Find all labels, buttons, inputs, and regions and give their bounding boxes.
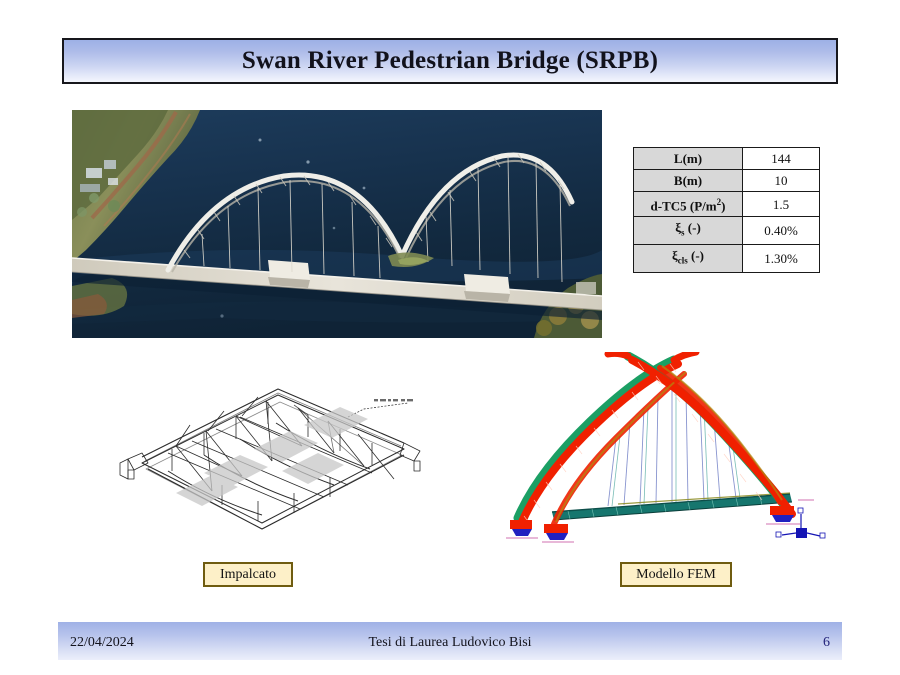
param-label: d-TC5 (P/m2) <box>634 192 743 217</box>
param-label-suffix: (-) <box>685 220 701 235</box>
caption-impalcato: Impalcato <box>203 562 293 587</box>
param-value: 0.40% <box>743 217 820 245</box>
param-label: L(m) <box>634 148 743 170</box>
caption-modello-fem: Modello FEM <box>620 562 732 587</box>
param-unit-suffix: ) <box>721 198 725 213</box>
caption-impalcato-label: Impalcato <box>220 567 276 583</box>
page-title: Swan River Pedestrian Bridge (SRPB) <box>242 47 658 75</box>
deck-cad-drawing <box>112 375 432 545</box>
parameter-table: L(m) 144 B(m) 10 d-TC5 (P/m2) 1.5 ξs (-)… <box>633 147 820 273</box>
table-row: d-TC5 (P/m2) 1.5 <box>634 192 820 217</box>
param-value: 1.30% <box>743 244 820 272</box>
param-label-subscript: cls <box>678 256 688 266</box>
param-label-base: d-TC5 <box>651 198 687 213</box>
table-row: L(m) 144 <box>634 148 820 170</box>
param-label: B(m) <box>634 170 743 192</box>
fem-model-image <box>498 352 828 547</box>
slide-title-banner: Swan River Pedestrian Bridge (SRPB) <box>62 38 838 84</box>
footer-page-number: 6 <box>823 635 830 651</box>
table-row: ξcls (-) 1.30% <box>634 244 820 272</box>
param-label: ξcls (-) <box>634 244 743 272</box>
param-label-suffix: (-) <box>688 248 704 263</box>
param-unit-prefix: (P/m <box>687 198 717 213</box>
table-row: B(m) 10 <box>634 170 820 192</box>
param-value: 10 <box>743 170 820 192</box>
caption-modello-fem-label: Modello FEM <box>636 567 716 583</box>
param-value: 1.5 <box>743 192 820 217</box>
param-value: 144 <box>743 148 820 170</box>
bridge-photo <box>72 110 602 338</box>
table-row: ξs (-) 0.40% <box>634 217 820 245</box>
param-label: ξs (-) <box>634 217 743 245</box>
footer-title: Tesi di Laurea Ludovico Bisi <box>0 635 900 651</box>
